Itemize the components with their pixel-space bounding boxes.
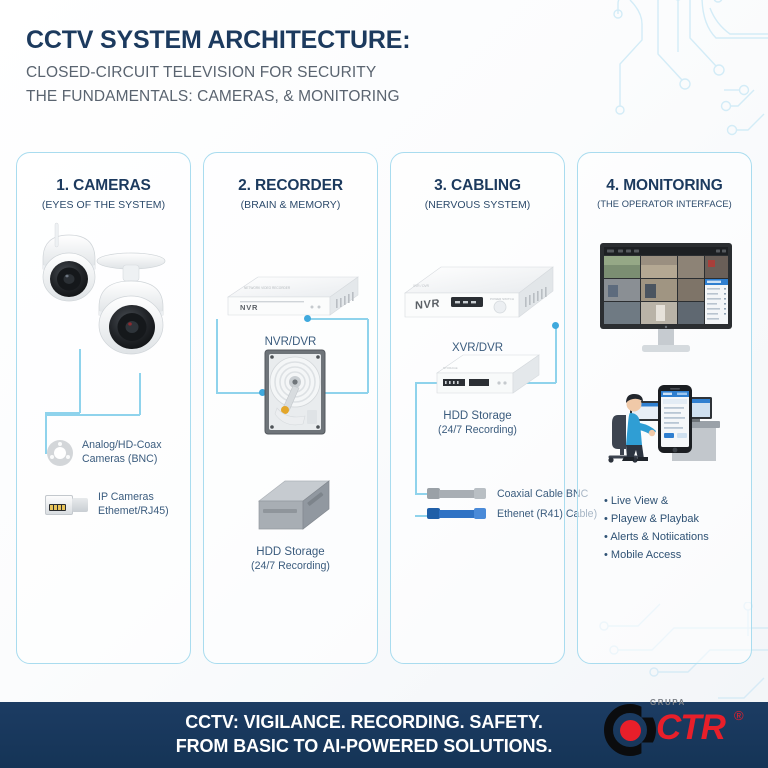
hdd-storage-caption: HDD Storage (24/7 Recording): [204, 545, 377, 574]
connector-dot-cabling-xvr: [552, 322, 559, 329]
hdd-storage-box-image: [251, 473, 337, 541]
footer-tagline: CCTV: VIGILANCE. RECORDING. SAFETY. FROM…: [176, 711, 553, 759]
connector-recorder-top-bridge: [307, 318, 368, 320]
connector-camera-b-horizontal: [45, 414, 140, 416]
connector-dot-recorder-nvr: [304, 315, 311, 322]
connector-cabling-right-vertical: [555, 325, 557, 383]
xvr-recorder-image: NVR POWER SWITCH XVR / DVR: [397, 259, 565, 337]
footer-banner: CCTV: VIGILANCE. RECORDING. SAFETY. FROM…: [0, 702, 768, 768]
list-item: Playew & Playbak: [604, 511, 709, 529]
panel-monitoring-title: 4. MONITORING: [578, 177, 751, 195]
subtitle-line-2: THE FUNDAMENTALS: CAMERAS, & MONITORING: [26, 85, 410, 109]
page-title: CCTV SYSTEM ARCHITECTURE:: [26, 26, 410, 55]
panel-cabling-header: 3. CABLING (NERVOUS SYSTEM): [391, 153, 564, 211]
panel-recorder[interactable]: 2. RECORDER (BRAIN & MEMORY) NVR NETWORK…: [203, 152, 378, 664]
hdd-storage-caption-line1: HDD Storage: [204, 545, 377, 560]
subtitle-line-1: CLOSED-CIRCUIT TELEVISION FOR SECURITY: [26, 61, 410, 85]
footer-line-1: CCTV: VIGILANCE. RECORDING. SAFETY.: [176, 711, 553, 735]
svg-text:STORAGE: STORAGE: [443, 366, 458, 370]
panel-monitoring-subtitle: (THE OPERATOR INTERFACE): [578, 199, 751, 209]
panel-recorder-subtitle: (BRAIN & MEMORY): [204, 199, 377, 211]
legend-ip-cameras[interactable]: IP CamerasEthemet/RJ45): [45, 491, 169, 519]
ctr-logo[interactable]: GRUPA CTR ®: [588, 696, 756, 760]
logo-registered-mark: ®: [734, 708, 744, 723]
cctv-multiview-monitor-image: [596, 241, 736, 359]
list-item: Live View &: [604, 493, 709, 511]
panel-monitoring-header: 4. MONITORING (THE OPERATOR INTERFACE): [578, 153, 751, 209]
rj45-plug-icon: [45, 494, 89, 516]
bnc-connector-icon: [47, 440, 73, 466]
circuit-decoration-top-right: [612, 0, 768, 154]
hdd-unit-caption-line1: HDD Storage: [391, 409, 564, 424]
hdd-unit-caption-line2: (24/7 Recording): [391, 424, 564, 438]
connector-recorder-left-vertical: [216, 319, 218, 393]
panel-cabling-subtitle: (NERVOUS SYSTEM): [391, 199, 564, 211]
logo-name-text: CTR: [656, 708, 725, 748]
panel-cameras-header: 1. CAMERAS (EYES OF THE SYSTEM): [17, 153, 190, 211]
panels-row: 1. CAMERAS (EYES OF THE SYSTEM): [16, 152, 752, 664]
footer-line-2: FROM BASIC TO AI-POWERED SOLUTIONS.: [176, 735, 553, 759]
panel-cabling[interactable]: 3. CABLING (NERVOUS SYSTEM) NVR POWER SW…: [390, 152, 565, 664]
svg-text:XVR / DVR: XVR / DVR: [413, 284, 430, 288]
dome-cameras-image: [25, 215, 185, 360]
monitoring-features-list: Live View & Playew & Playbak Alerts & No…: [604, 493, 709, 565]
hdd-storage-caption-line2: (24/7 Recording): [204, 560, 377, 574]
connector-camera-b-vertical: [139, 373, 141, 415]
connector-cabling-eth-stub: [415, 515, 427, 517]
svg-text:NETWORK VIDEO RECORDER: NETWORK VIDEO RECORDER: [244, 286, 291, 290]
panel-cameras-subtitle: (EYES OF THE SYSTEM): [17, 199, 190, 211]
operator-at-desk-illustration: [600, 371, 736, 467]
connector-cabling-coax-stub: [415, 493, 427, 495]
list-item: Mobile Access: [604, 547, 709, 565]
panel-monitoring[interactable]: 4. MONITORING (THE OPERATOR INTERFACE): [577, 152, 752, 664]
coaxial-cable-label: Coaxial Cable BNC: [497, 488, 588, 500]
list-item: Alerts & Notiications: [604, 529, 709, 547]
connector-recorder-right-vertical: [367, 319, 369, 393]
hard-disk-drive-image: [263, 348, 327, 436]
logo-red-dot-icon: [620, 720, 641, 741]
panel-cameras[interactable]: 1. CAMERAS (EYES OF THE SYSTEM): [16, 152, 191, 664]
cable-legend: Coaxial Cable BNC Ethenet (R41) Cable): [427, 487, 597, 520]
cable-legend-ethernet[interactable]: Ethenet (R41) Cable): [427, 507, 597, 520]
ethernet-cable-icon: [427, 507, 489, 520]
svg-text:NVR: NVR: [240, 303, 258, 312]
legend-ip-cameras-label: IP CamerasEthemet/RJ45): [98, 491, 169, 519]
cable-legend-coaxial[interactable]: Coaxial Cable BNC: [427, 487, 597, 500]
panel-recorder-title: 2. RECORDER: [204, 177, 377, 195]
panel-cabling-title: 3. CABLING: [391, 177, 564, 195]
panel-recorder-header: 2. RECORDER (BRAIN & MEMORY): [204, 153, 377, 211]
page-header: CCTV SYSTEM ARCHITECTURE: CLOSED-CIRCUIT…: [26, 26, 410, 109]
hdd-storage-unit-image: STORAGE: [429, 349, 549, 407]
hdd-unit-caption: HDD Storage (24/7 Recording): [391, 409, 564, 438]
coaxial-cable-icon: [427, 487, 489, 500]
connector-camera-a-vertical: [79, 349, 81, 413]
svg-text:POWER SWITCH: POWER SWITCH: [490, 297, 514, 301]
panel-cameras-title: 1. CAMERAS: [17, 177, 190, 195]
page-subtitle: CLOSED-CIRCUIT TELEVISION FOR SECURITY T…: [26, 61, 410, 109]
legend-analog-coax[interactable]: Analog/HD-CoaxCameras (BNC): [47, 439, 162, 467]
legend-analog-coax-label: Analog/HD-CoaxCameras (BNC): [82, 439, 162, 467]
connector-recorder-left-horizontal: [216, 392, 262, 394]
logo-grupa-text: GRUPA: [650, 698, 686, 707]
nvr-recorder-image: NVR NETWORK VIDEO RECORDER: [218, 269, 368, 331]
